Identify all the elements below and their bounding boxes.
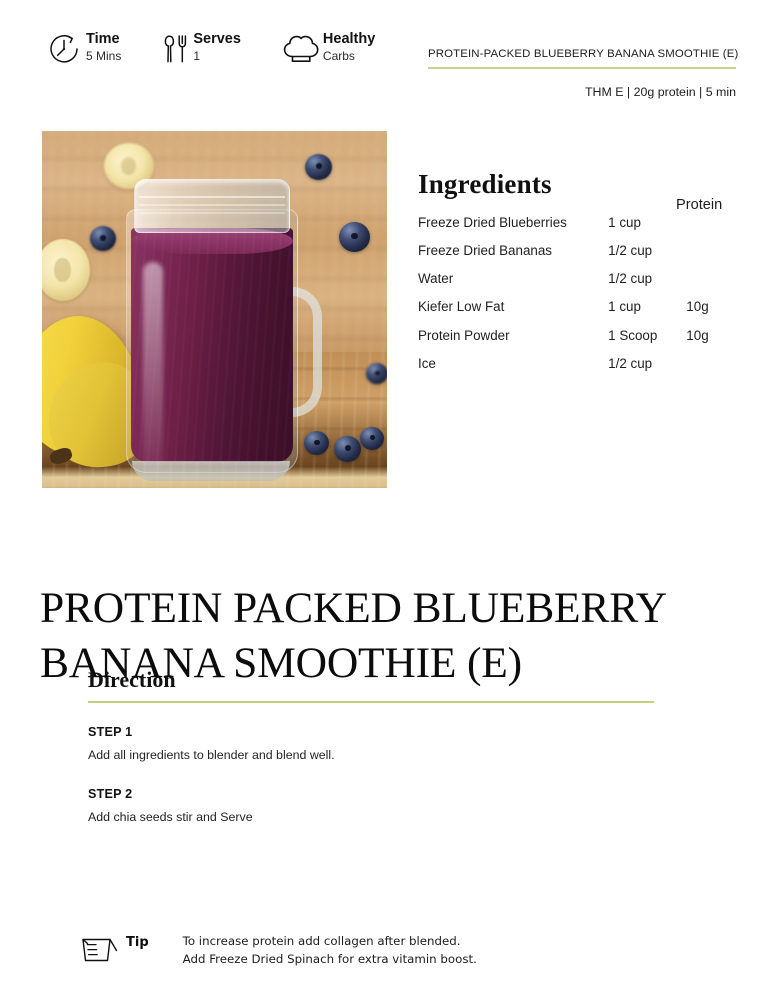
ingredient-amount: 1/2 cup: [608, 357, 686, 385]
blueberry: [366, 363, 387, 384]
meta-sub-time: 5 Mins: [86, 48, 121, 65]
ingredients-heading: Ingredients: [418, 170, 748, 200]
chef-hat-icon: [279, 28, 323, 70]
recipe-photo: [42, 131, 387, 488]
ingredient-amount: 1 cup: [608, 216, 686, 244]
jar-neck: [134, 179, 290, 233]
meta-title-serves: Serves: [193, 30, 241, 48]
meta-title-time: Time: [86, 30, 121, 48]
ingredients-section: Ingredients Protein Freeze Dried Blueber…: [418, 170, 748, 385]
ingredient-protein: [686, 216, 748, 244]
meta-text-serves: Serves 1: [193, 28, 241, 66]
ingredient-name: Kiefer Low Fat: [418, 300, 608, 328]
direction-section: Direction STEP 1 Add all ingredients to …: [88, 668, 654, 826]
photo-scene: [42, 131, 387, 488]
ingredient-name: Water: [418, 272, 608, 300]
direction-step: STEP 1 Add all ingredients to blender an…: [88, 725, 654, 765]
ingredient-amount: 1 Scoop: [608, 329, 686, 357]
meta-item-time: Time 5 Mins: [42, 28, 121, 70]
mason-jar: [126, 179, 296, 471]
direction-divider: [88, 701, 654, 703]
ingredient-name: Ice: [418, 357, 608, 385]
ingredient-amount: 1/2 cup: [608, 272, 686, 300]
blueberry: [334, 436, 361, 462]
table-row: Kiefer Low Fat 1 cup 10g: [418, 300, 748, 328]
ingredient-name: Freeze Dried Blueberries: [418, 216, 608, 244]
jar-highlight: [143, 262, 163, 472]
table-row: Water 1/2 cup: [418, 272, 748, 300]
meta-text-healthy: Healthy Carbs: [323, 28, 375, 66]
ingredient-name: Freeze Dried Bananas: [418, 244, 608, 272]
meta-sub-healthy: Carbs: [323, 48, 375, 65]
step-text: Add chia seeds stir and Serve: [88, 809, 338, 827]
table-row: Ice 1/2 cup: [418, 357, 748, 385]
direction-step: STEP 2 Add chia seeds stir and Serve: [88, 787, 654, 827]
header-right-block: PROTEIN-PACKED BLUEBERRY BANANA SMOOTHIE…: [428, 48, 736, 99]
cutlery-icon: [159, 28, 193, 70]
ingredient-protein: [686, 357, 748, 385]
tip-text: To increase protein add collagen after b…: [183, 930, 477, 969]
meta-text-time: Time 5 Mins: [86, 28, 121, 66]
blueberry: [305, 154, 332, 180]
header-recipe-title: PROTEIN-PACKED BLUEBERRY BANANA SMOOTHIE…: [428, 48, 736, 60]
table-row: Freeze Dried Blueberries 1 cup: [418, 216, 748, 244]
meta-item-healthy: Healthy Carbs: [279, 28, 375, 70]
recipe-meta-bar: Time 5 Mins Serves 1: [42, 28, 413, 70]
step-label: STEP 2: [88, 787, 654, 801]
header-divider: [428, 67, 736, 69]
measuring-cup-icon: [74, 930, 126, 968]
header-subtitle: THM E | 20g protein | 5 min: [428, 85, 736, 99]
table-row: Protein Powder 1 Scoop 10g: [418, 329, 748, 357]
meta-sub-serves: 1: [193, 48, 241, 65]
tip-label: Tip: [126, 930, 149, 950]
jar-body: [126, 209, 298, 473]
ingredient-name: Protein Powder: [418, 329, 608, 357]
jar-base: [132, 461, 290, 481]
direction-heading: Direction: [88, 668, 654, 692]
ingredient-protein: 10g: [686, 329, 748, 357]
step-label: STEP 1: [88, 725, 654, 739]
ingredients-table: Freeze Dried Blueberries 1 cup Freeze Dr…: [418, 216, 748, 385]
tip-section: Tip To increase protein add collagen aft…: [74, 930, 477, 969]
blueberry: [90, 226, 116, 251]
ingredient-protein: 10g: [686, 300, 748, 328]
meta-item-serves: Serves 1: [159, 28, 241, 70]
blueberry: [360, 427, 384, 450]
step-text: Add all ingredients to blender and blend…: [88, 747, 338, 765]
meta-title-healthy: Healthy: [323, 30, 375, 48]
ingredient-amount: 1/2 cup: [608, 244, 686, 272]
blueberry: [339, 222, 370, 252]
ingredient-protein: [686, 244, 748, 272]
ingredient-amount: 1 cup: [608, 300, 686, 328]
table-row: Freeze Dried Bananas 1/2 cup: [418, 244, 748, 272]
blueberry: [304, 431, 329, 455]
clock-icon: [42, 28, 86, 70]
ingredients-protein-column-header: Protein: [676, 197, 722, 213]
ingredient-protein: [686, 272, 748, 300]
